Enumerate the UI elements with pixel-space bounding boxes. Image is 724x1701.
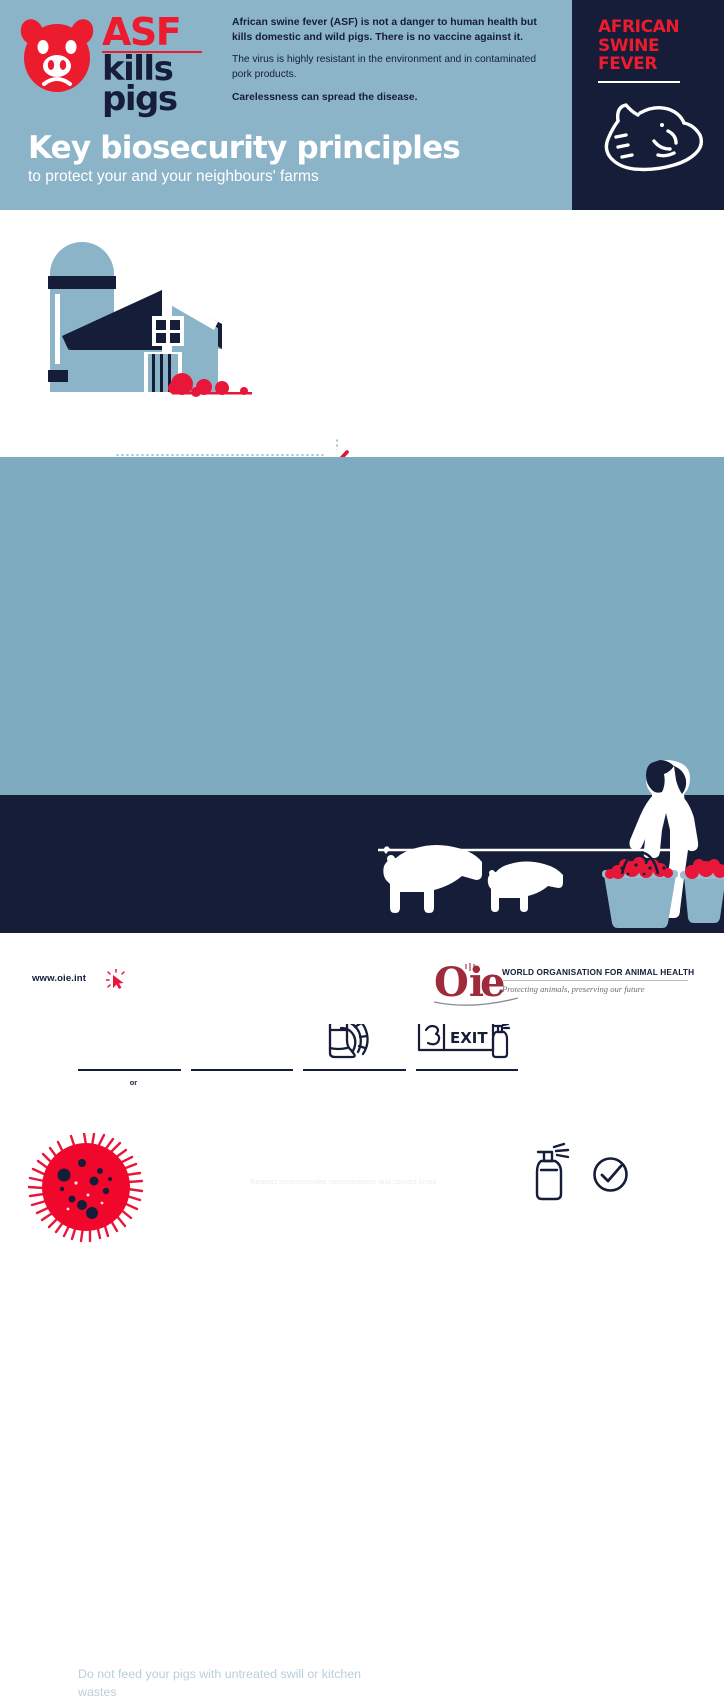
cleaning-column: Take a shower or wash hands prior to and…	[78, 1010, 181, 1118]
cleaning-column-text: Wear dedicated clothing and footwear on …	[191, 1078, 294, 1098]
page-subtitle: to protect your and your neighbours' far…	[28, 167, 568, 187]
cleaning-column-rule	[303, 1069, 406, 1071]
cleaning-column-text: Clean and disinfect animal housing betwe…	[416, 1078, 519, 1109]
feeding-rule	[78, 1657, 590, 1660]
footer: www.oie.int Oi e WORLD ORGANISATION FOR …	[0, 933, 724, 1024]
header-body-text: The virus is highly resistant in the env…	[232, 53, 557, 82]
oie-tagline: Protecting animals, preserving our futur…	[502, 984, 702, 994]
cleaning-col2-t1: Clean vehicles and footwear. It is impor…	[303, 1078, 403, 1118]
cleaning-column: Wear dedicated clothing and footwear on …	[191, 1010, 294, 1118]
spray-bottle-icon	[530, 1142, 578, 1202]
boar-head-outline-icon	[596, 95, 708, 183]
asf-virus-illustration	[24, 1133, 149, 1251]
disinfectant-callout: USE AN ASF VIRUS APPROVED DISINFECTANT R…	[250, 1149, 550, 1187]
cleaning-col3-t1: Clean and disinfect animal housing betwe…	[416, 1078, 511, 1107]
cleaning-columns: Take a shower or wash hands prior to and…	[78, 1010, 518, 1118]
asf-badge-line-2: SWINE	[598, 37, 710, 56]
feeding-title: FEEDING METHODS	[78, 1633, 258, 1652]
approved-check-seal-icon	[583, 1147, 638, 1202]
cleaning-column: EXIT Clean and disinfect animal housing …	[416, 1010, 519, 1118]
mouse-cursor-click-icon	[106, 969, 128, 991]
oie-org-name: WORLD ORGANISATION FOR ANIMAL HEALTH	[502, 967, 702, 977]
connector-dots-virus	[152, 1180, 248, 1182]
logo-asf-text: ASF	[102, 14, 212, 50]
cleaning-column-rule	[78, 1069, 181, 1071]
footer-url[interactable]: www.oie.int	[32, 973, 86, 984]
svg-text:EXIT: EXIT	[450, 1029, 488, 1047]
cleaning-column-rule	[416, 1069, 519, 1071]
header-copy: African swine fever (ASF) is not a dange…	[232, 16, 557, 106]
disinfectant-dotted-rule	[250, 1167, 550, 1170]
connector-dots-truck-down	[613, 1033, 615, 1151]
connector-dots-segregation-up	[336, 438, 338, 450]
header-strong-text: Carelessness can spread the disease.	[232, 91, 557, 106]
farm-barn-silo-illustration	[22, 224, 272, 429]
oie-divider	[502, 980, 688, 981]
asf-kills-pigs-logo: ASF kills pigs	[18, 14, 208, 114]
cleaning-column: Clean vehicles and footwear. It is impor…	[303, 1010, 406, 1118]
segregation-section: SEGREGATION Create and maintain physical…	[0, 210, 724, 457]
check-mark-icon	[78, 1601, 102, 1621]
asf-badge-line-3: FEVER	[598, 55, 710, 74]
asf-badge-line-1: AFRICAN	[598, 18, 710, 37]
infographic-page: ASF kills pigs African swine fever (ASF)…	[0, 0, 724, 1024]
feeding-body: Do not feed your pigs with untreated swi…	[78, 1665, 368, 1701]
header-title-block: Key biosecurity principles to protect yo…	[28, 131, 568, 187]
cleaning-col0-t1: Take a shower	[78, 1078, 130, 1087]
page-title: Key biosecurity principles	[28, 131, 568, 165]
cleaning-column-text: Clean vehicles and footwear. It is impor…	[303, 1078, 406, 1119]
pig-head-icon	[18, 16, 96, 96]
header-lead-text: African swine fever (ASF) is not a dange…	[232, 16, 557, 45]
cleaning-column-text: Take a shower or wash hands prior to and…	[78, 1078, 181, 1109]
cleaning-column-rule	[191, 1069, 294, 1071]
woman-carrying-swill-buckets-with-pigs-illustration	[378, 758, 724, 933]
logo-pigs-text: pigs	[102, 84, 212, 114]
cleaning-col0-bold: or	[130, 1078, 137, 1087]
svg-text:Oi: Oi	[434, 960, 484, 1006]
disinfectant-subtitle: Respect recommended concentrations and c…	[250, 1176, 550, 1187]
cleaning-section: CLEANING & DISINFECTION All materials (e…	[0, 457, 724, 795]
disinfectant-title: USE AN ASF VIRUS APPROVED DISINFECTANT	[250, 1149, 550, 1160]
oie-text-block: WORLD ORGANISATION FOR ANIMAL HEALTH Pro…	[502, 967, 702, 994]
asf-badge-divider	[598, 81, 680, 83]
asf-badge: AFRICAN SWINE FEVER	[598, 18, 710, 83]
connector-dots-farm-to-segregation	[115, 454, 325, 456]
cleaning-col1-t1: Wear dedicated clothing and footwear on …	[191, 1078, 290, 1097]
